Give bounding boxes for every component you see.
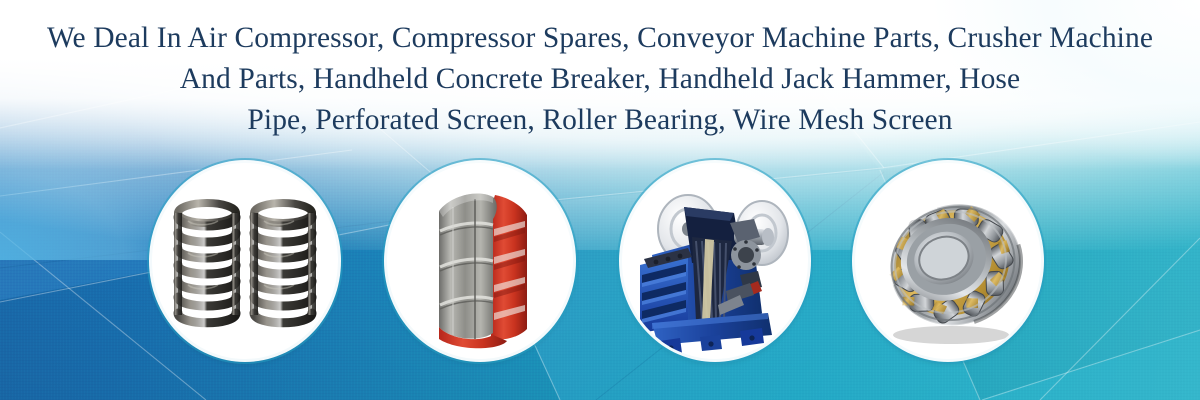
banner-headline: We Deal In Air Compressor, Compressor Sp… — [0, 18, 1200, 141]
product-circle-roller-bearing[interactable] — [855, 163, 1041, 359]
product-circle-compressor-springs[interactable] — [152, 163, 338, 359]
jaw-crusher-icon — [622, 163, 808, 359]
coil-springs-icon — [152, 163, 338, 359]
promotional-banner: We Deal In Air Compressor, Compressor Sp… — [0, 0, 1200, 400]
product-circle-crusher-jaw-plate[interactable] — [387, 163, 573, 359]
jaw-plate-icon — [387, 163, 573, 359]
spherical-roller-bearing-icon — [855, 163, 1041, 359]
product-circle-jaw-crusher-machine[interactable] — [622, 163, 808, 359]
product-circle-row — [0, 163, 1200, 360]
